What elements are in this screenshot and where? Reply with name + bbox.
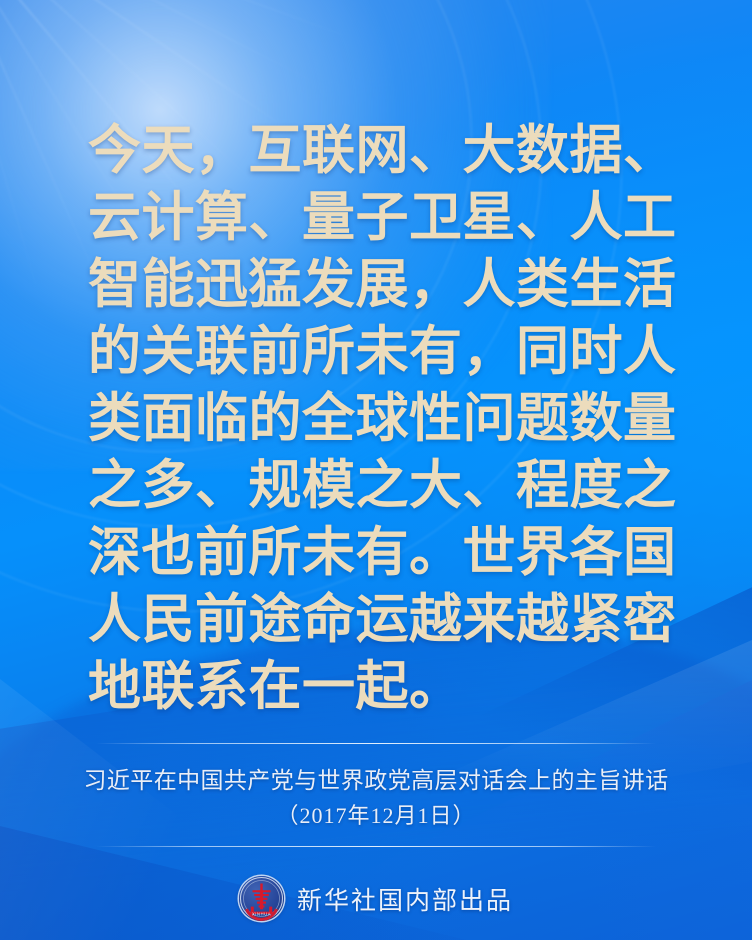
poster-canvas: 今天，互联网、大数据、云计算、量子卫星、人工智能迅猛发展，人类生活的关联前所未有… [0, 0, 752, 940]
divider-top [96, 743, 656, 744]
divider-bottom [96, 846, 656, 847]
caption-block: 习近平在中国共产党与世界政党高层对话会上的主旨讲话 （2017年12月1日） [0, 763, 752, 833]
xinhua-logo-icon: XINHUA [239, 876, 284, 921]
svg-text:XINHUA: XINHUA [252, 912, 271, 917]
caption-title: 习近平在中国共产党与世界政党高层对话会上的主旨讲话 [0, 763, 752, 798]
footer-label: 新华社国内部出品 [297, 881, 513, 917]
poster-content: 今天，互联网、大数据、云计算、量子卫星、人工智能迅猛发展，人类生活的关联前所未有… [0, 0, 752, 940]
footer-credit: XINHUA 新华社国内部出品 [0, 876, 752, 921]
caption-date: （2017年12月1日） [0, 798, 752, 833]
headline-quote: 今天，互联网、大数据、云计算、量子卫星、人工智能迅猛发展，人类生活的关联前所未有… [88, 118, 688, 721]
